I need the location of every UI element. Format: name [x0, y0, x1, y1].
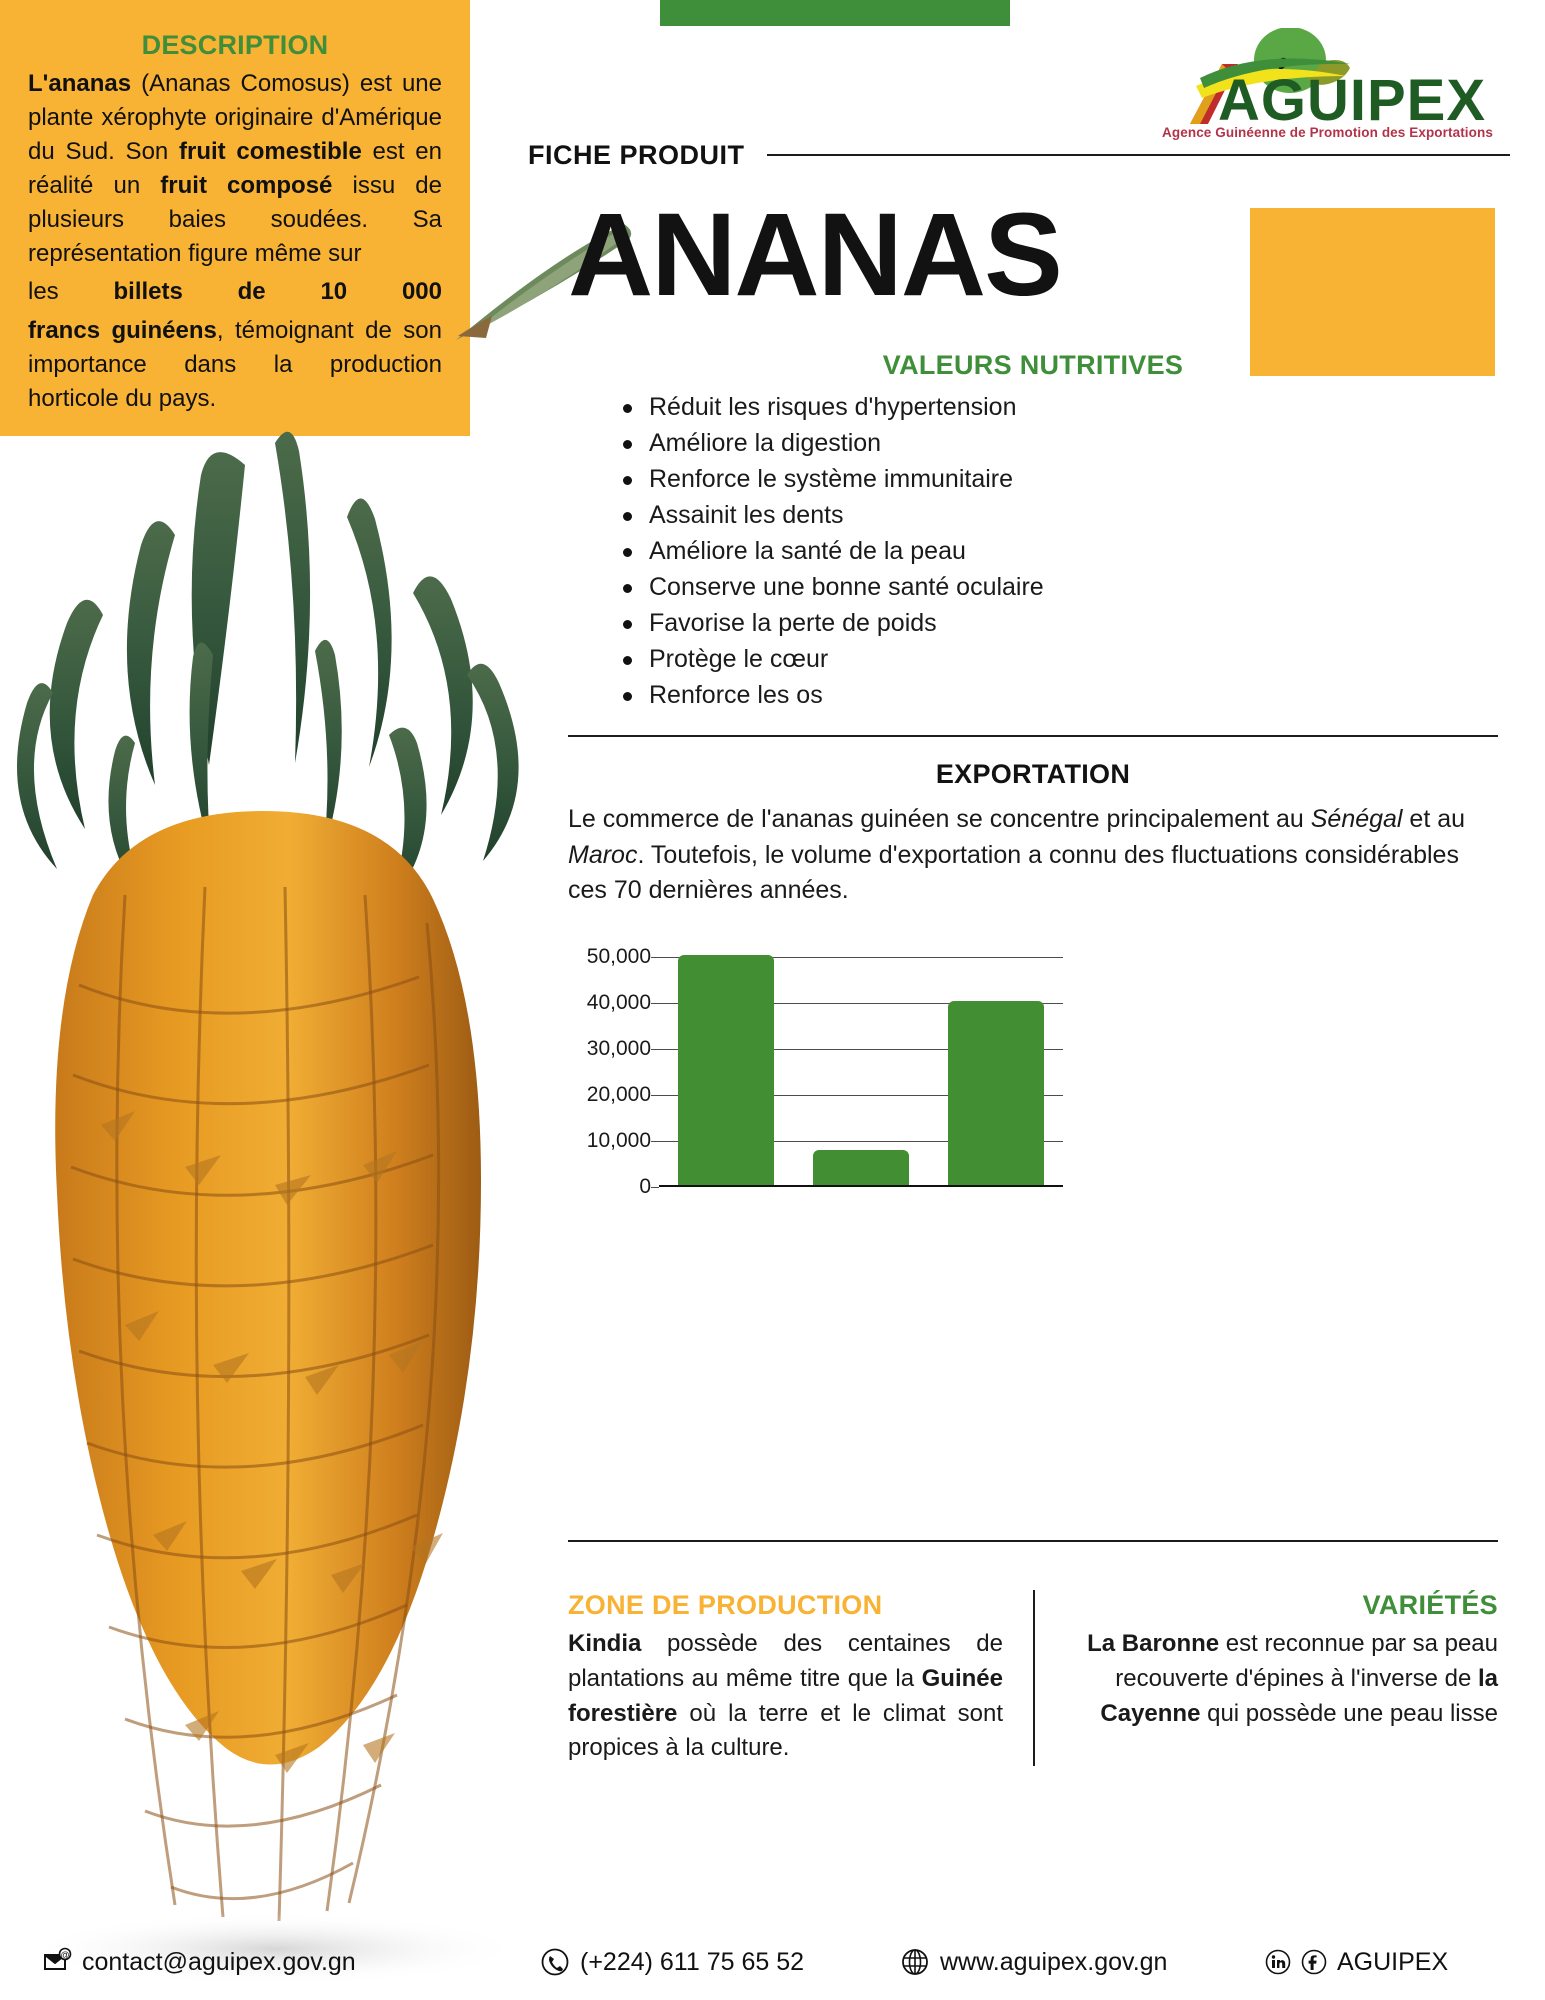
footer-social-handle: AGUIPEX: [1337, 1948, 1448, 1977]
chart-y-axis-labels: 010,00020,00030,00040,00050,000: [573, 957, 651, 1187]
aguipex-logo-mark: AGUIPEX: [1130, 28, 1525, 128]
nutrition-list-item: Conserve une bonne santé oculaire: [623, 571, 1498, 603]
footer-email[interactable]: @ contact@aguipex.gov.gn: [42, 1947, 356, 1977]
zone-production-body: Kindia possède des centaines de plantati…: [568, 1627, 1003, 1766]
nutrition-list-item: Favorise la perte de poids: [623, 607, 1498, 639]
export-volume-chart: 010,00020,00030,00040,00050,000: [573, 957, 1063, 1205]
nutrition-list-item: Assainit les dents: [623, 499, 1498, 531]
zone-production-block: ZONE DE PRODUCTION Kindia possède des ce…: [568, 1590, 1033, 1766]
fiche-produit-label: FICHE PRODUIT: [528, 140, 745, 171]
nutrition-list-item: Renforce le système immunitaire: [623, 463, 1498, 495]
chart-y-tick: [651, 1095, 659, 1096]
footer-website[interactable]: www.aguipex.gov.gn: [900, 1947, 1167, 1977]
description-paragraph-2: les billets de 10 000: [28, 275, 442, 309]
footer-social[interactable]: AGUIPEX: [1265, 1948, 1448, 1977]
globe-icon: [900, 1947, 930, 1977]
chart-y-tick: [651, 957, 659, 958]
footer-phone-text: (+224) 611 75 65 52: [580, 1948, 804, 1977]
exportation-heading: EXPORTATION: [568, 759, 1498, 790]
chart-bar-slot: [794, 957, 929, 1185]
nutrition-heading: VALEURS NUTRITIVES: [568, 350, 1498, 381]
facebook-icon[interactable]: [1301, 1949, 1327, 1975]
exportation-body: Le commerce de l'ananas guinéen se conce…: [568, 802, 1498, 909]
svg-text:@: @: [60, 1950, 69, 1960]
top-green-accent-bar: [660, 0, 1010, 26]
bottom-columns: ZONE DE PRODUCTION Kindia possède des ce…: [568, 1590, 1498, 1766]
linkedin-icon[interactable]: [1265, 1949, 1291, 1975]
description-heading: DESCRIPTION: [28, 30, 442, 61]
nutrition-list-item: Protège le cœur: [623, 643, 1498, 675]
envelope-at-icon: @: [42, 1947, 72, 1977]
chart-y-tick: [651, 1003, 659, 1004]
description-paragraph-3: francs guinéens, témoignant de son impor…: [28, 314, 442, 416]
chart-y-tick-label: 0: [639, 1175, 651, 1199]
product-sheet-page: AGUIPEX Agence Guinéenne de Promotion de…: [0, 0, 1545, 2000]
chart-bar[interactable]: [948, 1001, 1044, 1185]
nutrition-list-item: Réduit les risques d'hypertension: [623, 391, 1498, 423]
chart-bar[interactable]: [813, 1150, 909, 1185]
fiche-produit-header: FICHE PRODUIT: [528, 138, 1528, 172]
footer-phone[interactable]: (+224) 611 75 65 52: [540, 1947, 804, 1977]
varietes-body: La Baronne est reconnue par sa peau reco…: [1065, 1627, 1498, 1731]
svg-text:AGUIPEX: AGUIPEX: [1218, 68, 1486, 128]
chart-bar-slot: [928, 957, 1063, 1185]
chart-y-tick-label: 20,000: [587, 1083, 651, 1107]
description-body: L'ananas (Ananas Comosus) est une plante…: [28, 67, 442, 416]
nutrition-list: Réduit les risques d'hypertensionAmélior…: [568, 391, 1498, 711]
chart-bars: [659, 957, 1063, 1185]
description-paragraph-1: L'ananas (Ananas Comosus) est une plante…: [28, 67, 442, 271]
chart-plot-area: [659, 957, 1063, 1187]
footer-website-text: www.aguipex.gov.gn: [940, 1948, 1167, 1977]
chart-bar-slot: [659, 957, 794, 1185]
description-panel: DESCRIPTION L'ananas (Ananas Comosus) es…: [0, 0, 470, 436]
zone-production-heading: ZONE DE PRODUCTION: [568, 1590, 1003, 1621]
chart-y-tick: [651, 1141, 659, 1142]
chart-y-tick: [651, 1187, 659, 1188]
divider-after-nutrition: [568, 735, 1498, 737]
pineapple-illustration: [0, 425, 555, 1995]
footer-contact-bar: @ contact@aguipex.gov.gn (+224) 611 75 6…: [0, 1924, 1545, 2000]
varietes-heading: VARIÉTÉS: [1065, 1590, 1498, 1621]
chart-y-tick-label: 50,000: [587, 945, 651, 969]
nutrition-list-item: Améliore la santé de la peau: [623, 535, 1498, 567]
footer-email-text: contact@aguipex.gov.gn: [82, 1948, 356, 1977]
page-title: ANANAS: [568, 196, 1061, 314]
divider-before-bottom: [568, 1540, 1498, 1542]
chart-y-tick-label: 10,000: [587, 1129, 651, 1153]
chart-bar[interactable]: [678, 955, 774, 1185]
nutrition-list-item: Renforce les os: [623, 679, 1498, 711]
nutrition-list-item: Améliore la digestion: [623, 427, 1498, 459]
pineapple-photo: [0, 425, 555, 1995]
varietes-block: VARIÉTÉS La Baronne est reconnue par sa …: [1033, 1590, 1498, 1766]
chart-y-tick: [651, 1049, 659, 1050]
header-rule: [767, 154, 1510, 156]
aguipex-logo: AGUIPEX Agence Guinéenne de Promotion de…: [1130, 28, 1525, 138]
chart-y-tick-label: 30,000: [587, 1037, 651, 1061]
phone-icon: [540, 1947, 570, 1977]
chart-y-tick-label: 40,000: [587, 991, 651, 1015]
right-content-column: VALEURS NUTRITIVES Réduit les risques d'…: [568, 350, 1498, 1205]
chart-x-axis: [659, 1185, 1063, 1187]
